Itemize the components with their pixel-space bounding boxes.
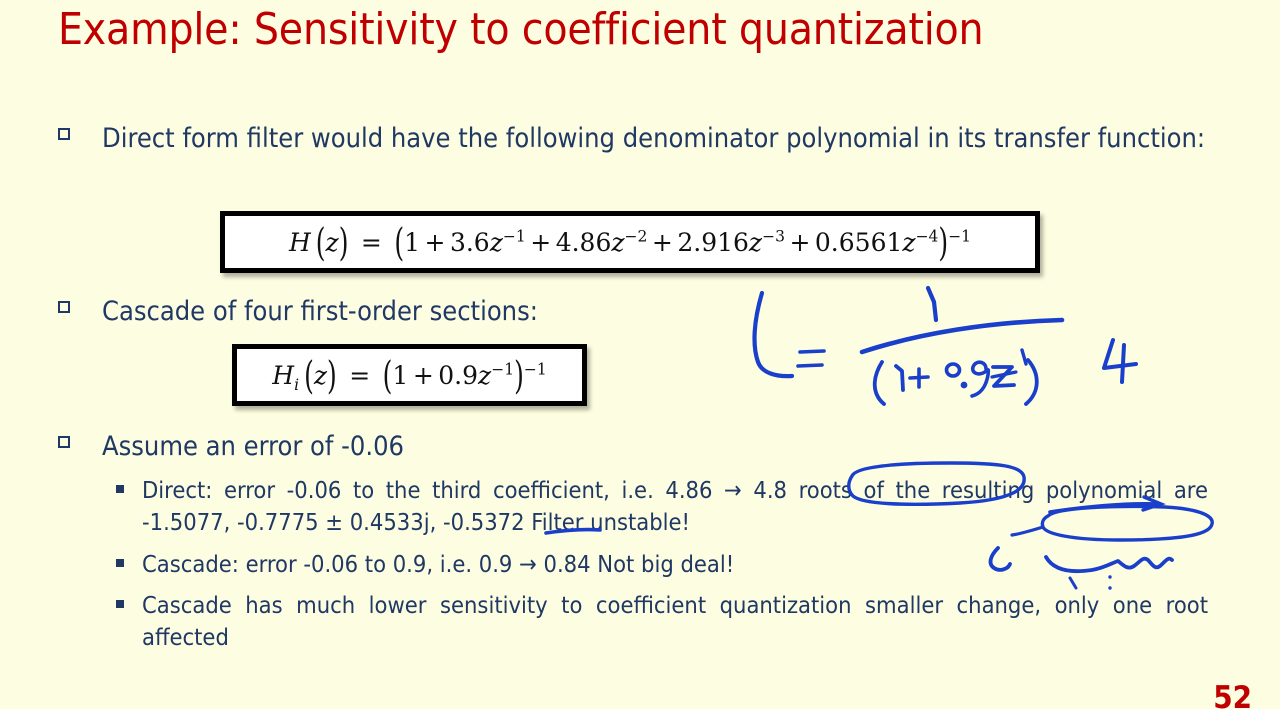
ink-plus-sign xyxy=(910,377,928,378)
sub-bullet-item-1-label: Direct: error -0.06 to the third coeffic… xyxy=(142,474,1208,538)
hollow-square-bullet-icon xyxy=(58,128,70,140)
page-number: 52 xyxy=(1213,680,1252,709)
ink-exponent-four xyxy=(1122,345,1124,382)
ink-variable-z xyxy=(993,367,1014,386)
bullet-item-1: Direct form filter would have the follow… xyxy=(58,120,1213,157)
ink-exponent-four xyxy=(1104,340,1136,368)
ink-digit-nine xyxy=(972,362,988,396)
filled-square-bullet-icon xyxy=(116,600,124,608)
bullet-item-2-label: Cascade of four first-order sections: xyxy=(102,293,758,330)
ink-close-paren xyxy=(1026,360,1037,404)
ink-equals-sign xyxy=(798,365,822,366)
hollow-square-bullet-icon xyxy=(58,436,70,448)
equation-2-expression: Hi (z) = (1+0.9z−1)−1 xyxy=(272,363,546,388)
ink-exponent-minus-one xyxy=(1022,350,1026,364)
ink-z-strike xyxy=(992,372,1016,377)
filled-square-bullet-icon xyxy=(116,485,124,493)
sub-bullet-item-2-label: Cascade: error -0.06 to 0.9, i.e. 0.9 → … xyxy=(142,548,1116,580)
ink-fraction-bar xyxy=(862,320,1062,352)
ink-decimal-point xyxy=(962,383,966,387)
page-title: Example: Sensitivity to coefficient quan… xyxy=(58,4,1238,55)
bullet-item-2: Cascade of four first-order sections: xyxy=(58,293,758,330)
bullet-item-3: Assume an error of -0.06 xyxy=(58,428,758,465)
sub-bullet-item-1: Direct: error -0.06 to the third coeffic… xyxy=(116,474,1208,538)
ink-equals-sign xyxy=(800,351,824,352)
hollow-square-bullet-icon xyxy=(58,301,70,313)
equation-1-expression: H (z) = (1+3.6z−1+4.86z−2+2.916z−3+0.656… xyxy=(289,230,971,255)
sub-bullet-item-3: Cascade has much lower sensitivity to co… xyxy=(116,589,1208,653)
bullet-item-3-label: Assume an error of -0.06 xyxy=(102,428,758,465)
ink-numerator-one xyxy=(928,288,936,320)
ink-denominator-one xyxy=(896,366,903,390)
bullet-item-1-label: Direct form filter would have the follow… xyxy=(102,120,1213,157)
ink-digit-zero xyxy=(947,364,960,376)
sub-bullet-item-3-label: Cascade has much lower sensitivity to co… xyxy=(142,589,1208,653)
filled-square-bullet-icon xyxy=(116,559,124,567)
ink-open-paren xyxy=(875,362,884,404)
equation-box-2: Hi (z) = (1+0.9z−1)−1 xyxy=(232,344,587,406)
slide-canvas: Example: Sensitivity to coefficient quan… xyxy=(0,0,1280,709)
equation-box-1: H (z) = (1+3.6z−1+4.86z−2+2.916z−3+0.656… xyxy=(220,211,1040,273)
ink-leader-arrow xyxy=(755,293,792,376)
sub-bullet-item-2: Cascade: error -0.06 to 0.9, i.e. 0.9 → … xyxy=(116,548,1116,580)
